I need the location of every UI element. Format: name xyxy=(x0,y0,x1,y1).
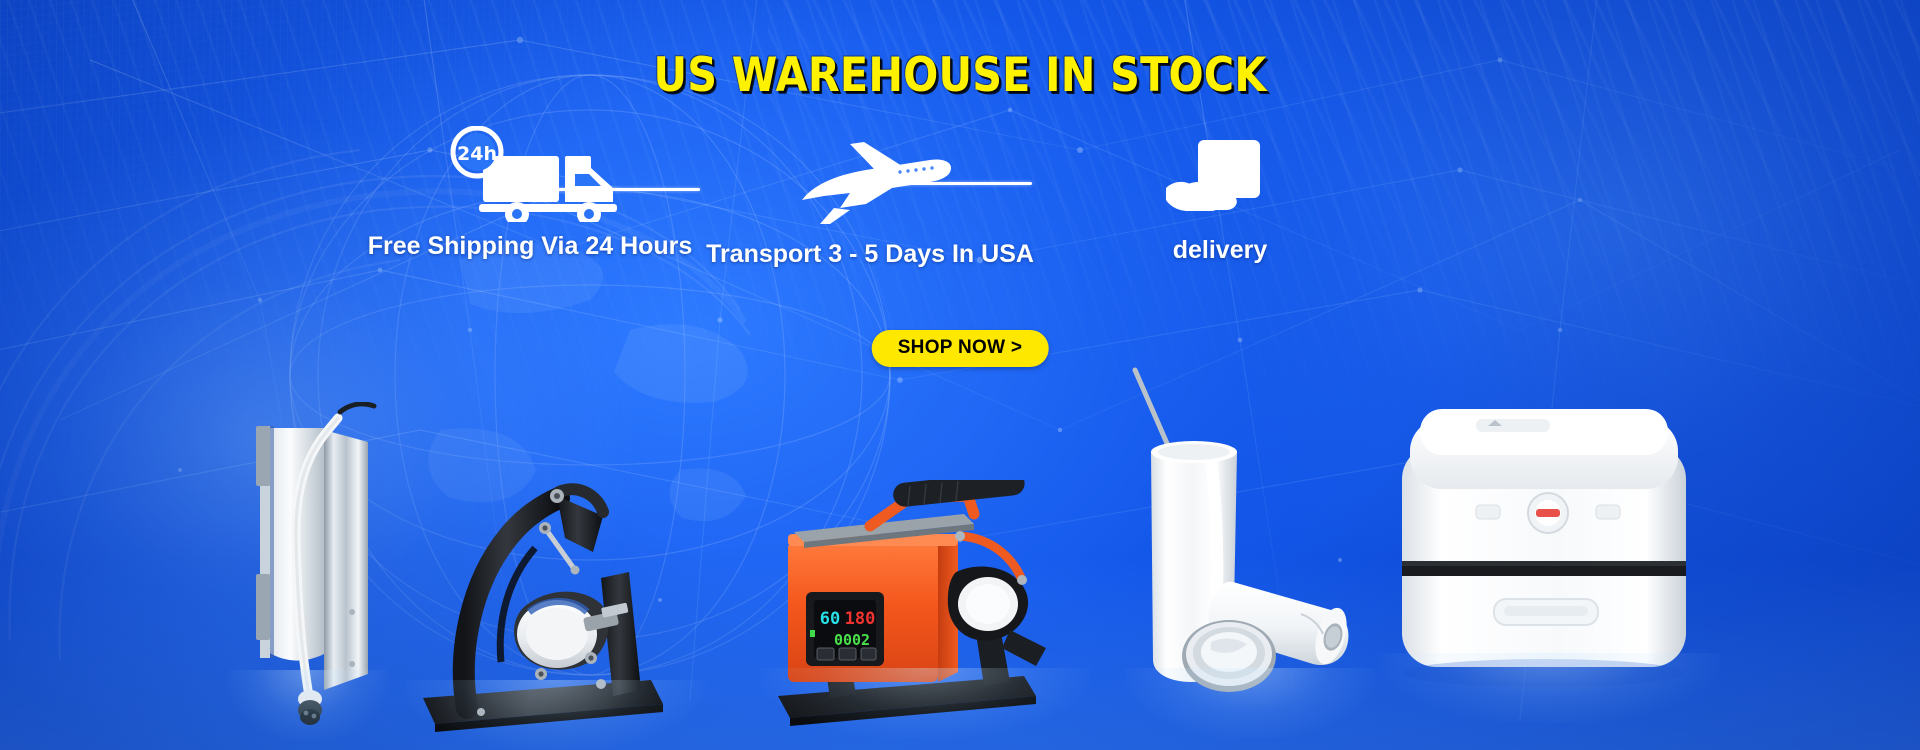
hand-package-icon xyxy=(1090,130,1350,226)
product-manual-mug-heat-press xyxy=(405,412,705,742)
page-title: US WAREHOUSE IN STOCK xyxy=(115,48,1805,103)
product-sublimation-tumblers xyxy=(1125,360,1375,730)
display-timer: 0002 xyxy=(834,631,870,649)
airplane-icon xyxy=(700,134,1040,230)
feature-label-delivery: delivery xyxy=(1090,236,1350,265)
product-white-appliance xyxy=(1380,385,1720,715)
product-mug-press-heating-element xyxy=(228,402,388,732)
badge-24h: 24h xyxy=(457,143,497,165)
display-target: 180 xyxy=(845,609,876,629)
feature-delivery: delivery xyxy=(1090,130,1350,265)
banner-stage: US WAREHOUSE IN STOCK xyxy=(0,0,1920,750)
feature-label-transport: Transport 3 - 5 Days In USA xyxy=(700,240,1040,269)
truck-24h-icon: 24h xyxy=(360,126,700,222)
features-row: 24h Free Shipping Via 24 Hours xyxy=(300,120,1420,280)
feature-label-free-shipping: Free Shipping Via 24 Hours xyxy=(360,232,700,261)
product-showcase: 60 180 0002 xyxy=(0,320,1920,750)
feature-free-shipping: 24h Free Shipping Via 24 Hours xyxy=(360,126,700,261)
display-temperature: 60 xyxy=(820,609,840,629)
feature-transport: Transport 3 - 5 Days In USA xyxy=(700,134,1040,269)
product-orange-tumbler-heat-press: 60 180 0002 xyxy=(760,480,1090,730)
